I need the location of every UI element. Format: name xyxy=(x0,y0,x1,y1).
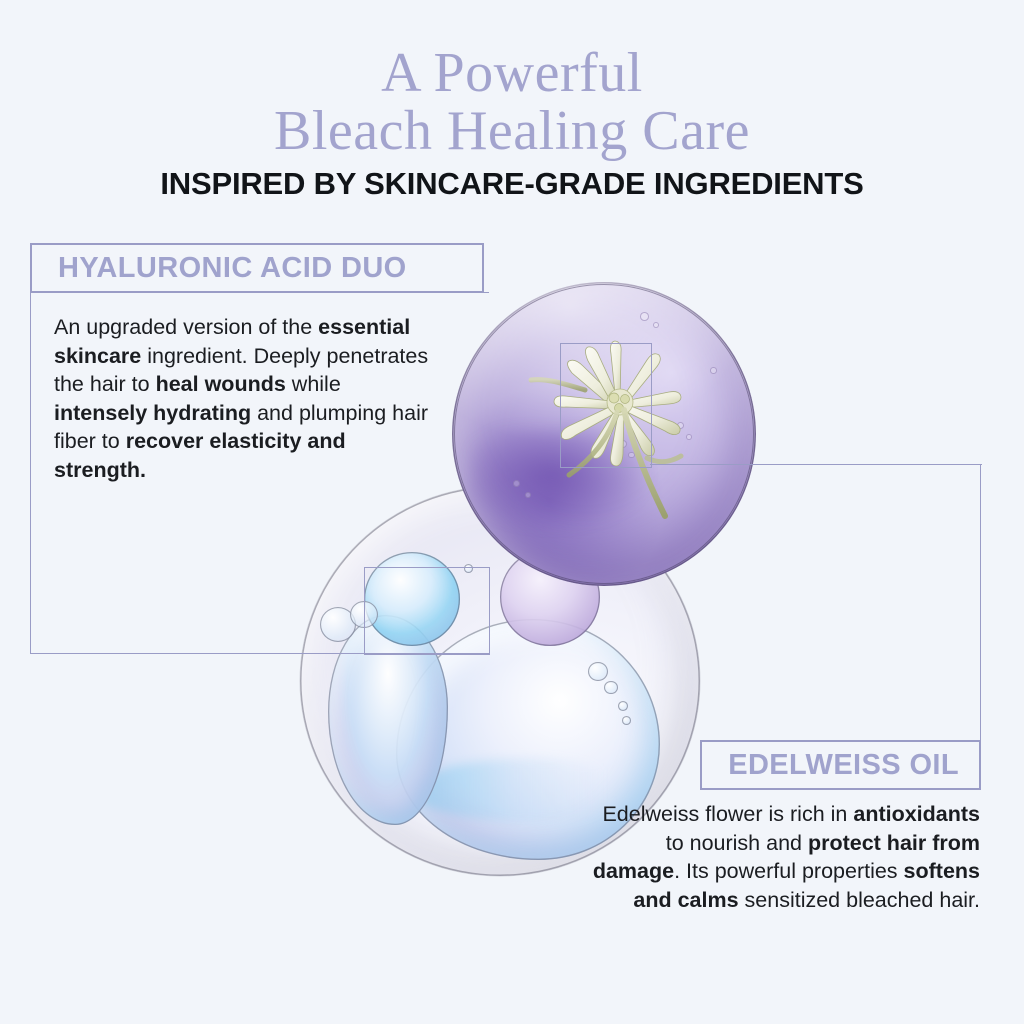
mini-bubble xyxy=(604,681,618,694)
connector-right-vertical xyxy=(980,464,981,741)
mini-bubble xyxy=(622,716,631,725)
ingredient-label-hyaluronic: HYALURONIC ACID DUO xyxy=(30,243,484,293)
ingredient-label-edelweiss: EDELWEISS OIL xyxy=(700,740,981,790)
ingredient-description-hyaluronic: An upgraded version of the essential ski… xyxy=(54,313,436,484)
ingredient-label-text: HYALURONIC ACID DUO xyxy=(58,252,407,285)
connector-right-horizontal xyxy=(650,464,982,465)
page-subtitle: INSPIRED BY SKINCARE-GRADE INGREDIENTS xyxy=(0,166,1024,202)
ingredient-description-edelweiss: Edelweiss flower is rich in antioxidants… xyxy=(580,800,980,914)
detail-square-flower xyxy=(560,343,652,468)
mini-bubble xyxy=(588,662,608,682)
detail-square-bubble xyxy=(364,567,490,655)
poster-canvas: A Powerful Bleach Healing Care INSPIRED … xyxy=(0,0,1024,1024)
mini-bubble xyxy=(618,701,628,711)
ingredient-label-text: EDELWEISS OIL xyxy=(728,749,959,782)
